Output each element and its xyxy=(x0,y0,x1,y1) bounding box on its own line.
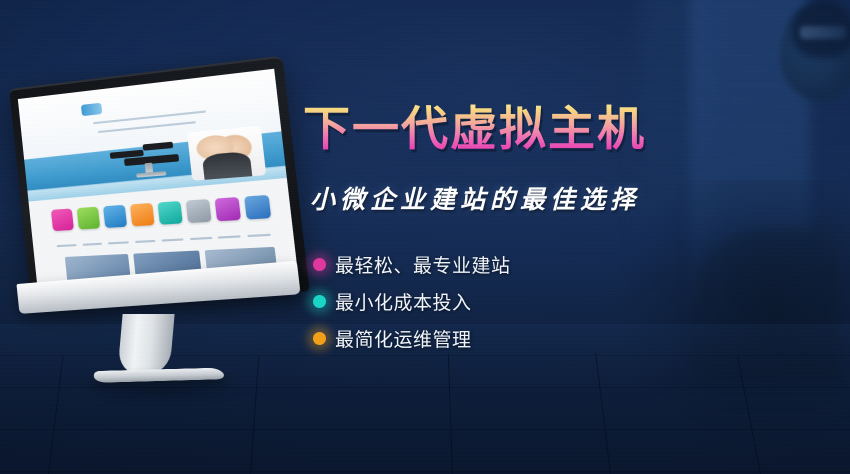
page-title: 下一代虚拟主机 xyxy=(303,100,646,157)
website-grid-icon xyxy=(157,201,183,225)
bullet-dot-wrap xyxy=(303,332,335,345)
page-subtitle: 小微企业建站的最佳选择 xyxy=(310,180,640,216)
website-grid-icon xyxy=(130,203,155,227)
website-grid-icon xyxy=(214,197,241,222)
feature-label: 最简化运维管理 xyxy=(335,325,472,352)
list-item: 最小化成本投入 xyxy=(303,283,603,320)
website-hero-device xyxy=(105,136,197,184)
list-item: 最轻松、最专业建站 xyxy=(303,246,603,283)
monitor-shadow xyxy=(60,380,270,406)
website-grid-icon xyxy=(103,204,128,227)
bullet-dot-wrap xyxy=(303,295,335,308)
list-item: 最简化运维管理 xyxy=(303,320,603,357)
desktop-computer-monitor xyxy=(8,88,286,388)
feature-label: 最小化成本投入 xyxy=(335,288,472,315)
website-grid-icon xyxy=(185,199,211,223)
bullet-dot-teal xyxy=(313,295,326,308)
website-grid-icon xyxy=(51,208,75,231)
monitor-screen xyxy=(18,69,299,290)
bullet-dot-orange xyxy=(313,332,326,345)
feature-list: 最轻松、最专业建站 最小化成本投入 最简化运维管理 xyxy=(303,246,603,357)
monitor-stand-neck xyxy=(117,314,174,374)
bullet-dot-wrap xyxy=(303,258,335,271)
website-grid-icon xyxy=(76,206,100,229)
website-grid-icon xyxy=(244,195,272,220)
promo-banner: 下一代虚拟主机 小微企业建站的最佳选择 最轻松、最专业建站 最小化成本投入 最简… xyxy=(0,0,850,474)
bullet-dot-magenta xyxy=(313,258,326,271)
feature-label: 最轻松、最专业建站 xyxy=(335,251,511,278)
website-hero-photo xyxy=(187,125,267,181)
